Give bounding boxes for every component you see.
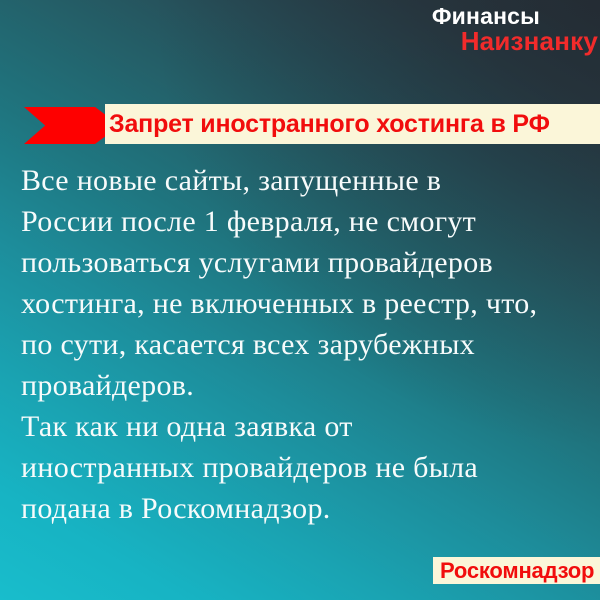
body-line: провайдеров. xyxy=(21,365,586,406)
brand-name-secondary: Наизнанку xyxy=(432,28,600,56)
headline-text: Запрет иностранного хостинга в РФ xyxy=(105,110,550,139)
body-copy: Все новые сайты, запущенные в России пос… xyxy=(21,160,586,529)
channel-branding: Финансы Наизнанку xyxy=(432,4,600,56)
headline-box: Запрет иностранного хостинга в РФ xyxy=(105,104,600,144)
body-line: иностранных провайдеров не была xyxy=(21,447,586,488)
source-badge: Роскомнадзор xyxy=(433,557,600,584)
source-badge-label: Роскомнадзор xyxy=(440,558,594,584)
body-line: хостинга, не включенных в реестр, что, xyxy=(21,283,586,324)
headline-banner: Запрет иностранного хостинга в РФ xyxy=(0,104,600,146)
body-line: по сути, касается всех зарубежных xyxy=(21,324,586,365)
brand-name-primary: Финансы xyxy=(432,4,600,28)
poster-canvas: Финансы Наизнанку Запрет иностранного хо… xyxy=(0,0,600,600)
body-line: подана в Роскомнадзор. xyxy=(21,488,586,529)
body-line: Все новые сайты, запущенные в xyxy=(21,160,586,201)
body-line: пользоваться услугами провайдеров xyxy=(21,242,586,283)
body-line: Так как ни одна заявка от xyxy=(21,406,586,447)
body-line: России после 1 февраля, не смогут xyxy=(21,201,586,242)
